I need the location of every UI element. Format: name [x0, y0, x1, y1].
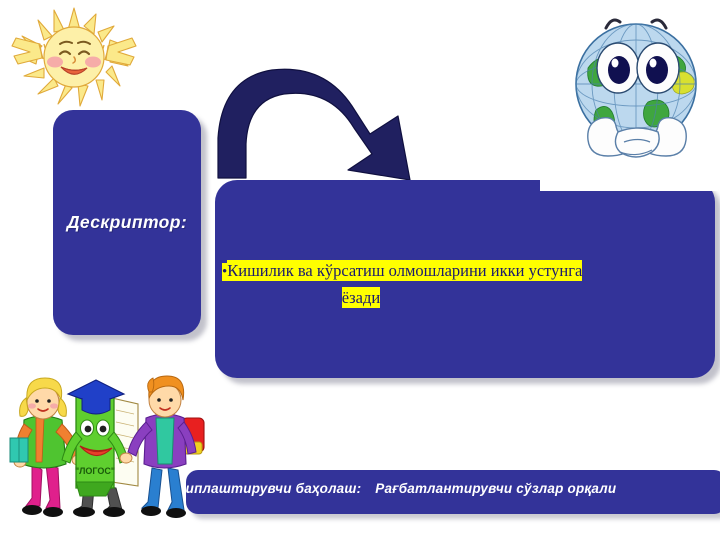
globe-icon: [562, 6, 714, 176]
descriptor-line-2: ёзади: [342, 287, 380, 308]
assessment-banner: оллиплаштирувчи баҳолаш:Рағбатлантирувчи…: [186, 470, 720, 514]
curved-arrow-icon: [212, 62, 462, 187]
descriptor-label-box: Дескриптор:: [53, 110, 201, 335]
assessment-banner-value: Рағбатлантирувчи сўзлар орқали: [375, 481, 616, 496]
descriptor-label-text: Дескриптор:: [67, 212, 187, 233]
sun-icon: [8, 4, 140, 108]
svg-text:"ЛОГОС": "ЛОГОС": [75, 466, 115, 476]
assessment-banner-text: оллиплаштирувчи баҳолаш:Рағбатлантирувчи…: [186, 481, 720, 496]
descriptor-bullet-line: •Кишилик ва кўрсатиш олмошларини икки ус…: [222, 258, 716, 285]
descriptor-line-2-wrap: ёзади: [226, 285, 496, 310]
assessment-banner-label: оллиплаштирувчи баҳолаш:: [186, 481, 361, 496]
descriptor-content: •Кишилик ва кўрсатиш олмошларини икки ус…: [222, 258, 716, 310]
descriptor-line-1: Кишилик ва кўрсатиш олмошларини икки уст…: [227, 260, 582, 281]
slide-canvas: Дескриптор: •Кишилик ва кўрсатиш олмошла…: [0, 0, 720, 540]
main-content-box-notch: [540, 180, 718, 191]
